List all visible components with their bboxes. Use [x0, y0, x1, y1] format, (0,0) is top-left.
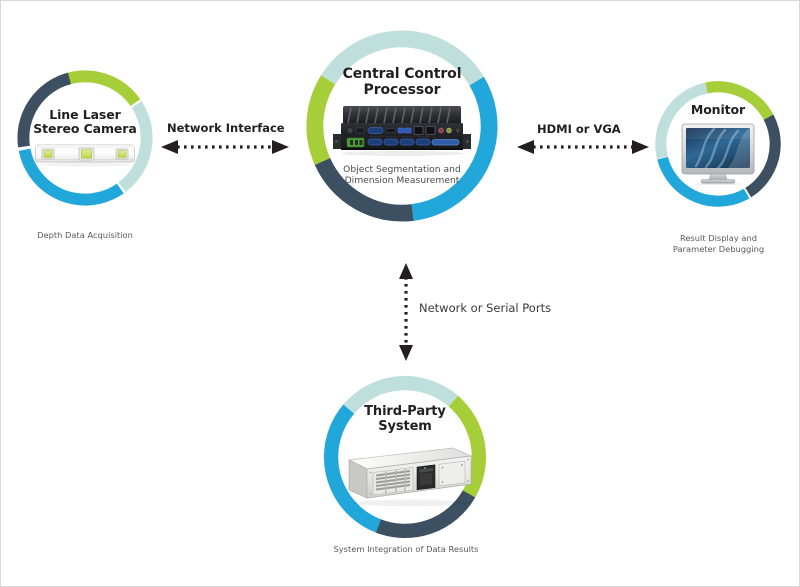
node-title: Monitor: [691, 103, 745, 118]
industrial-fanless-computer-icon: [331, 104, 473, 160]
connector-label-hdmi-or-vga: HDMI or VGA: [537, 122, 621, 136]
caption-camera: Depth Data Acquisition: [1, 230, 169, 241]
arrowhead-up-icon: [399, 263, 413, 279]
arrowhead-right-icon: [272, 140, 289, 154]
caption-text: System Integration of Data Results: [334, 544, 479, 554]
node-content: Third-Party System: [343, 395, 467, 519]
node-title-line-1: Line Laser: [33, 108, 136, 123]
node-title: Line Laser Stereo Camera: [33, 108, 136, 138]
node-content: Monitor: [670, 96, 766, 192]
arrowhead-down-icon: [399, 345, 413, 361]
caption-third-party: System Integration of Data Results: [301, 544, 511, 555]
node-title: Central Control Processor: [343, 66, 462, 99]
node-title-line-1: Central Control: [343, 66, 462, 83]
caption-line-1: Result Display and: [641, 233, 796, 244]
node-content: Line Laser Stereo Camera: [33, 86, 137, 190]
connector-camera-to-processor: [161, 137, 289, 157]
rackmount-server-icon: [335, 440, 475, 510]
node-title-line-1: Monitor: [691, 103, 745, 118]
connector-label-network-or-serial-ports: Network or Serial Ports: [419, 301, 551, 315]
node-central-control-processor[interactable]: Central Control Processor: [303, 27, 501, 225]
arrowhead-left-icon: [161, 140, 178, 154]
connector-label-network-interface: Network Interface: [167, 121, 285, 135]
node-title-line-2: Stereo Camera: [33, 122, 136, 137]
arrowhead-left-icon: [517, 140, 534, 154]
ring-wrapper: Monitor: [653, 79, 783, 209]
node-subtitle-line-2: Dimension Measurement: [343, 175, 461, 186]
node-title-line-2: System: [364, 419, 446, 434]
connector-processor-to-third-party: [393, 263, 419, 361]
node-title-line-1: Third-Party: [364, 404, 446, 419]
lcd-monitor-icon: [680, 123, 756, 185]
arrowhead-right-icon: [632, 140, 649, 154]
node-title: Third-Party System: [364, 404, 446, 435]
node-content: Central Control Processor: [329, 53, 476, 200]
caption-monitor: Result Display and Parameter Debugging: [641, 233, 796, 255]
caption-text: Depth Data Acquisition: [37, 230, 133, 240]
line-laser-stereo-camera-icon: [34, 142, 136, 168]
connector-processor-to-monitor: [517, 137, 649, 157]
node-subtitle-line-1: Object Segmentation and: [343, 164, 461, 175]
ring-wrapper: Central Control Processor: [303, 27, 501, 225]
node-line-laser-stereo-camera[interactable]: Line Laser Stereo Camera: [15, 68, 155, 208]
node-title-line-2: Processor: [343, 82, 462, 99]
caption-line-2: Parameter Debugging: [641, 244, 796, 255]
node-monitor[interactable]: Monitor: [653, 79, 783, 209]
diagram-canvas: Line Laser Stereo Camera: [0, 0, 800, 587]
node-third-party-system[interactable]: Third-Party System: [321, 373, 489, 541]
ring-wrapper: Third-Party System: [321, 373, 489, 541]
node-subtitle: Object Segmentation and Dimension Measur…: [343, 164, 461, 186]
ring-wrapper: Line Laser Stereo Camera: [15, 68, 155, 208]
